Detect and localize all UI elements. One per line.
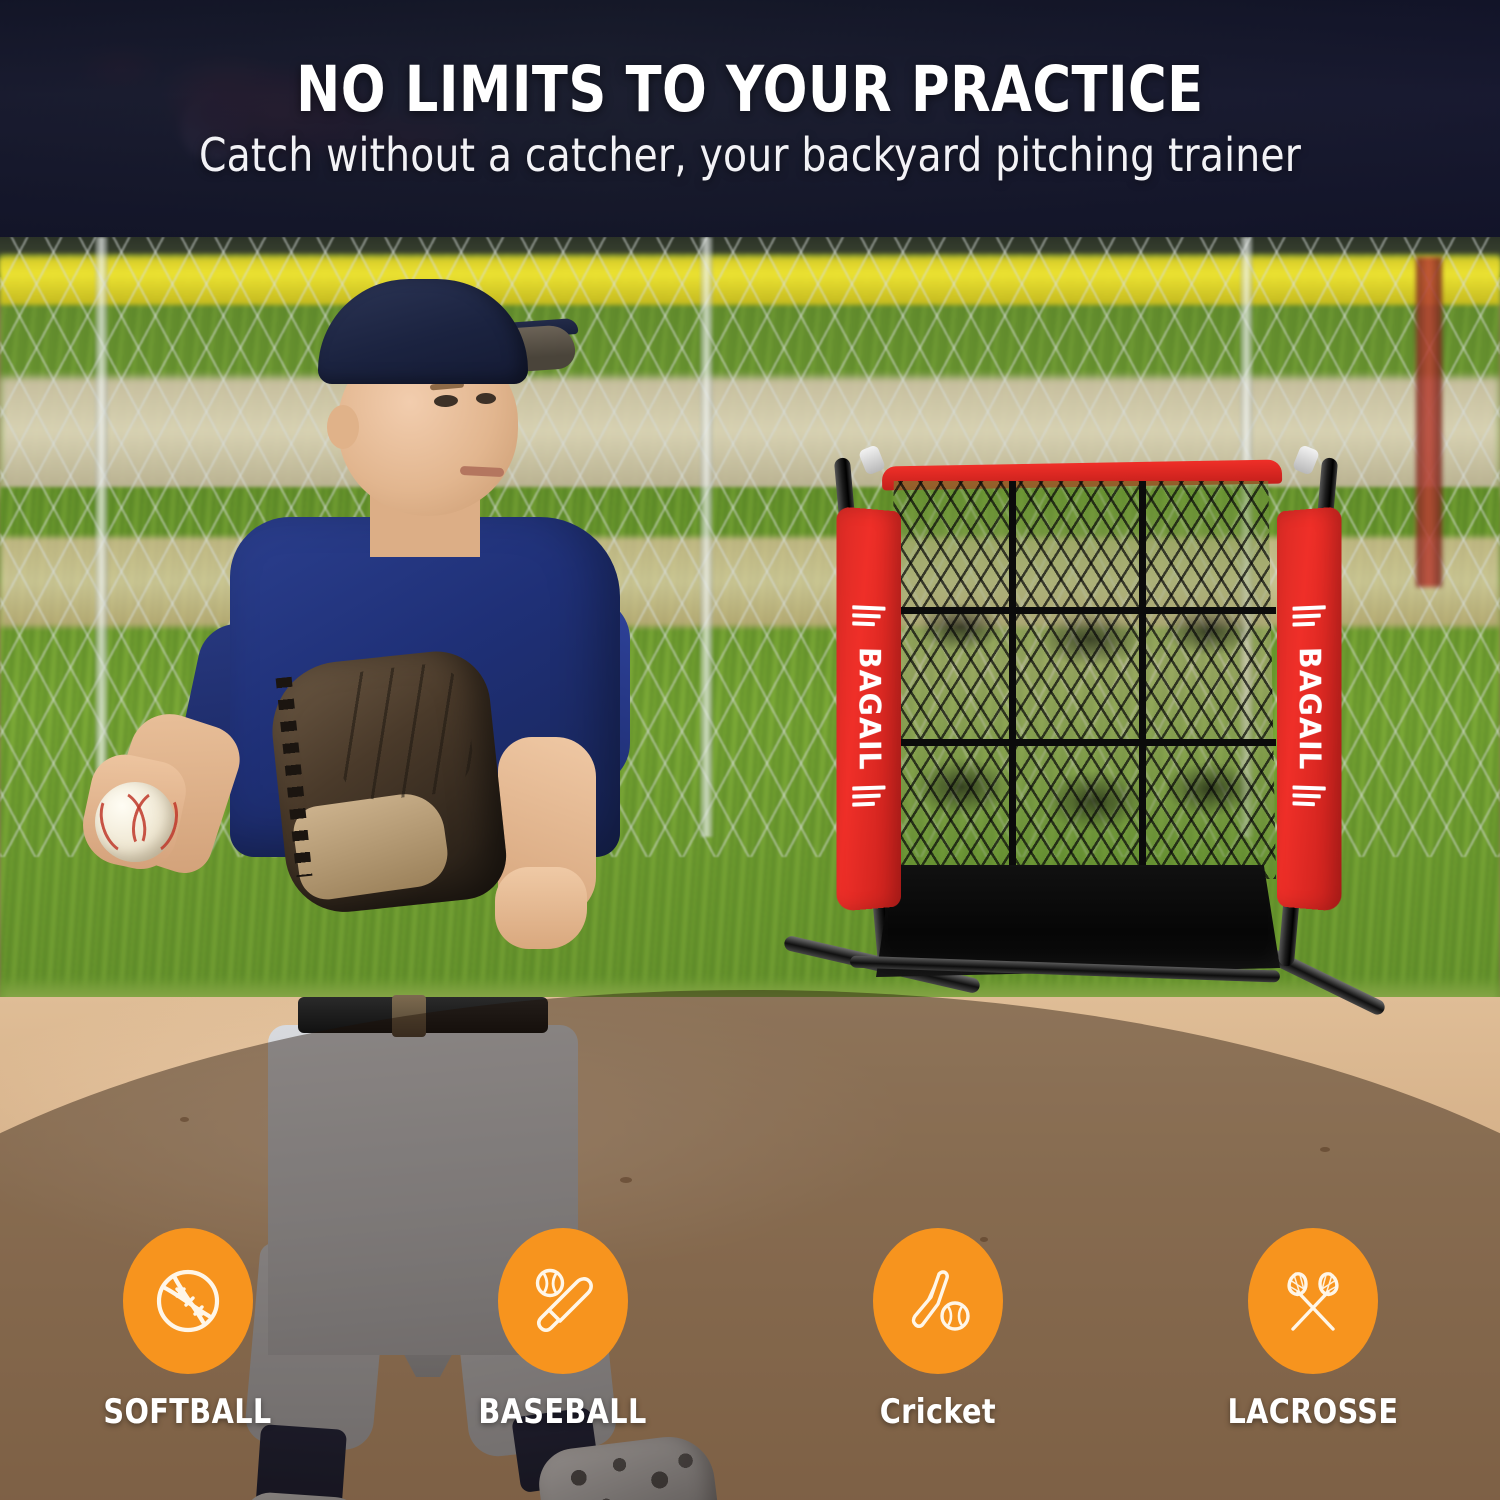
page-subtitle: Catch without a catcher, your backyard p…: [199, 131, 1301, 179]
cricket-bat-ball-icon: [901, 1264, 975, 1338]
header-banner: NO LIMITS TO YOUR PRACTICE Catch without…: [0, 0, 1500, 237]
glove-finger-stalls: [330, 660, 477, 803]
feature-item-cricket[interactable]: Cricket: [750, 1228, 1125, 1500]
cricket-badge: [873, 1228, 1003, 1374]
baseball-cap: [318, 279, 528, 384]
feature-item-lacrosse[interactable]: LACROSSE: [1125, 1228, 1500, 1500]
player-eye: [476, 393, 496, 404]
header-text-block: NO LIMITS TO YOUR PRACTICE Catch without…: [0, 0, 1500, 237]
feature-label-softball: SOFTBALL: [103, 1392, 271, 1432]
lacrosse-sticks-icon: [1276, 1264, 1350, 1338]
feature-label-lacrosse: LACROSSE: [1227, 1392, 1398, 1432]
feature-item-baseball[interactable]: BASEBALL: [375, 1228, 750, 1500]
baseball-bat-icon: [526, 1264, 600, 1338]
sport-feature-row: SOFTBALL BASEBALL: [0, 1228, 1500, 1500]
feature-item-softball[interactable]: SOFTBALL: [0, 1228, 375, 1500]
softball-badge: [123, 1228, 253, 1374]
softball-icon: [151, 1264, 225, 1338]
feature-label-cricket: Cricket: [879, 1392, 995, 1432]
product-banner: NO LIMITS TO YOUR PRACTICE Catch without…: [0, 0, 1500, 1500]
player-ear: [327, 405, 359, 449]
page-title: NO LIMITS TO YOUR PRACTICE: [296, 58, 1204, 121]
baseball-badge: [498, 1228, 628, 1374]
lacrosse-badge: [1248, 1228, 1378, 1374]
player-right-hand: [495, 867, 587, 949]
feature-label-baseball: BASEBALL: [478, 1392, 646, 1432]
